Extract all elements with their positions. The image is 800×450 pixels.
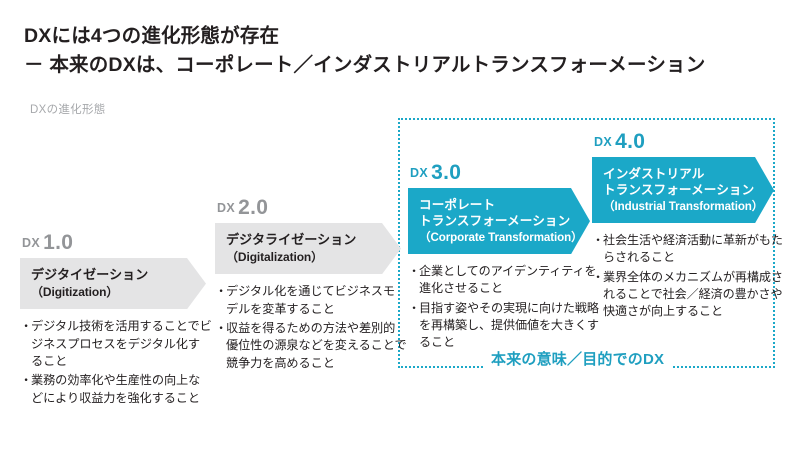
bullet-marker-icon: ・ [20,372,32,389]
list-item: ・デジタル技術を活用することでビジネスプロセスをデジタル化すること [20,318,212,370]
stage-version-label: DX3.0 [408,162,600,183]
bullet-marker-icon: ・ [20,318,32,335]
stage-name-jp-line-2: トランスフォーメーション [419,213,580,229]
stage-dx-1: DX1.0 デジタイゼーション （Digitization） ・デジタル技術を活… [20,232,212,409]
stage-name-jp-line-1: コーポレート [419,197,580,213]
list-item-text: 業務の効率化や生産性の向上などにより収益力を強化すること [31,373,200,404]
bullet-marker-icon: ・ [215,320,227,337]
stage-bullet-list: ・デジタル技術を活用することでビジネスプロセスをデジタル化すること ・業務の効率… [20,318,212,407]
stage-name-jp-line-1: インダストリアル [603,166,764,182]
stage-version-label: DX1.0 [20,232,212,253]
stage-name-en: （Digitization） [31,285,196,301]
list-item-text: デジタル技術を活用することでビジネスプロセスをデジタル化すること [31,319,212,368]
stage-dx-2: DX2.0 デジタライゼーション （Digitalization） ・デジタル化… [215,197,407,374]
dx-version-number: 2.0 [238,196,268,219]
list-item: ・業務の効率化や生産性の向上などにより収益力を強化すること [20,372,212,407]
stage-name-en: （Corporate Transformation） [419,230,580,245]
dx-version-number: 1.0 [43,231,73,254]
list-item-text: デジタル化を通じてビジネスモデルを変革すること [226,284,395,315]
dx-version-number: 3.0 [431,161,461,184]
bullet-marker-icon: ・ [592,232,604,249]
dx-word: DX [22,236,40,250]
stage-name-jp: デジタライゼーション [226,232,391,249]
highlight-caption: 本来の意味／目的でのDX [484,352,671,369]
stage-dx-4: DX4.0 インダストリアル トランスフォーメーション （Industrial … [592,131,784,322]
list-item-text: 収益を得るための方法や差別的優位性の源泉などを変えることで競争力を高めること [226,321,407,370]
list-item: ・デジタル化を通じてビジネスモデルを変革すること [215,283,407,318]
stage-version-label: DX4.0 [592,131,784,152]
page-title-line-2: － 本来のDXは、コーポレート／インダストリアルトランスフォーメーション [24,53,780,79]
stage-banner-arrow: コーポレート トランスフォーメーション （Corporate Transform… [408,188,590,254]
bullet-marker-icon: ・ [215,283,227,300]
list-item: ・業界全体のメカニズムが再構成されることで社会／経済の豊かさや快適さが向上するこ… [592,269,784,321]
stage-banner-arrow: デジタライゼーション （Digitalization） [215,223,401,274]
stage-name-jp: デジタイゼーション [31,267,196,284]
bullet-marker-icon: ・ [408,263,420,280]
dx-word: DX [217,201,235,215]
list-item: ・企業としてのアイデンティティを進化させること [408,263,600,297]
stage-name-jp-line-2: トランスフォーメーション [603,182,764,198]
stage-bullet-list: ・社会生活や経済活動に革新がもたらされること ・業界全体のメカニズムが再構成され… [592,232,784,320]
list-item-text: 社会生活や経済活動に革新がもたらされること [603,233,783,264]
page-title-line-1: DXには4つの進化形態が存在 [24,24,780,50]
subtitle-label: DXの進化形態 [30,101,106,117]
dx-word: DX [410,166,428,180]
list-item: ・収益を得るための方法や差別的優位性の源泉などを変えることで競争力を高めること [215,320,407,372]
list-item-text: 目指す姿やその実現に向けた戦略を再構築し、提供価値を大きくすること [419,301,599,349]
dx-word: DX [594,135,612,149]
list-item: ・目指す姿やその実現に向けた戦略を再構築し、提供価値を大きくすること [408,300,600,352]
stage-bullet-list: ・企業としてのアイデンティティを進化させること ・目指す姿やその実現に向けた戦略… [408,263,600,351]
stage-banner-arrow: デジタイゼーション （Digitization） [20,258,206,309]
list-item-text: 業界全体のメカニズムが再構成されることで社会／経済の豊かさや快適さが向上すること [603,270,783,318]
bullet-marker-icon: ・ [592,269,604,286]
list-item-text: 企業としてのアイデンティティを進化させること [419,264,597,295]
stage-version-label: DX2.0 [215,197,407,218]
stage-name-en: （Industrial Transformation） [603,199,764,214]
list-item: ・社会生活や経済活動に革新がもたらされること [592,232,784,266]
stage-dx-3: DX3.0 コーポレート トランスフォーメーション （Corporate Tra… [408,162,600,353]
stage-bullet-list: ・デジタル化を通じてビジネスモデルを変革すること ・収益を得るための方法や差別的… [215,283,407,372]
stage-name-en: （Digitalization） [226,250,391,266]
title-block: DXには4つの進化形態が存在 － 本来のDXは、コーポレート／インダストリアルト… [24,24,780,78]
stage-banner-arrow: インダストリアル トランスフォーメーション （Industrial Transf… [592,157,774,223]
bullet-marker-icon: ・ [408,300,420,317]
dx-version-number: 4.0 [615,130,645,153]
